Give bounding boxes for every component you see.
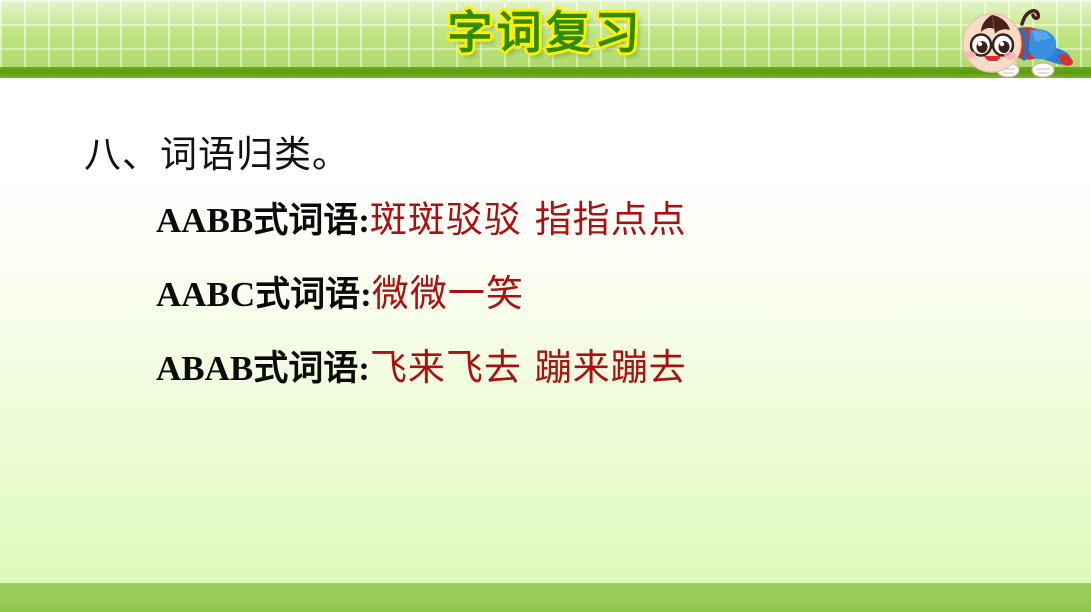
- category-label-aabb: AABB式词语:: [156, 201, 370, 240]
- slide-root: 字词复习: [0, 0, 1091, 612]
- section-heading: 八、词语归类。: [84, 124, 350, 178]
- crawling-baby-mascot: [948, 0, 1078, 86]
- category-answer-aabb: 斑斑驳驳 指指点点: [370, 198, 687, 241]
- footer-band: [0, 583, 1091, 612]
- mascot-svg: [948, 0, 1078, 86]
- category-list: AABB式词语:斑斑驳驳 指指点点 AABC式词语:微微一笑 ABAB式词语:飞…: [156, 196, 1056, 418]
- category-answer-abab: 飞来飞去 蹦来蹦去: [370, 346, 687, 389]
- category-label-abab: ABAB式词语:: [156, 349, 370, 388]
- category-row-aabb: AABB式词语:斑斑驳驳 指指点点: [156, 196, 1056, 270]
- page-title: 字词复习: [0, 2, 1091, 64]
- header-divider-rule: [0, 67, 1091, 78]
- category-row-aabc: AABC式词语:微微一笑: [156, 270, 1056, 344]
- slide-content: 八、词语归类。 AABB式词语:斑斑驳驳 指指点点 AABC式词语:微微一笑 A…: [0, 78, 1091, 583]
- category-answer-aabc: 微微一笑: [372, 272, 524, 315]
- category-row-abab: ABAB式词语:飞来飞去 蹦来蹦去: [156, 344, 1056, 418]
- category-label-aabc: AABC式词语:: [156, 275, 372, 314]
